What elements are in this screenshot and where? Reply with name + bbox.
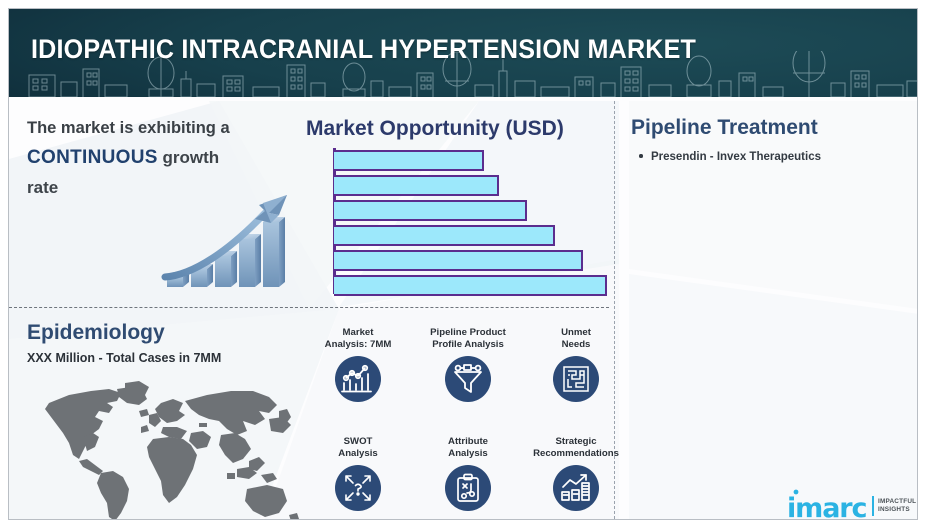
chart-bar — [334, 275, 607, 296]
chart-bar — [334, 175, 499, 196]
icon-cell-market-analysis[interactable]: Market Analysis: 7MM — [310, 327, 406, 402]
bar-chart-arrow-up-icon — [553, 465, 599, 511]
logo-tagline-line-2: INSIGHTS — [878, 506, 916, 514]
icon-caption: Attribute Analysis — [420, 436, 516, 461]
growth-line-2-rest: growth — [158, 148, 219, 167]
growth-emphasis: CONTINUOUS — [27, 147, 158, 168]
imarc-logo[interactable]: imarc IMPACTFUL INSIGHTS — [787, 489, 911, 520]
logo-wordmark: imarc — [787, 493, 866, 520]
poster-header: IDIOPATHIC INTRACRANIAL HYPERTENSION MAR… — [9, 9, 918, 97]
funnel-icon — [445, 356, 491, 402]
icon-caption: Pipeline Product Profile Analysis — [420, 327, 516, 352]
icon-cell-unmet-needs[interactable]: Unmet Needs — [528, 327, 624, 402]
icon-cell-attribute-analysis[interactable]: Attribute Analysis — [420, 436, 516, 511]
chart-bar — [334, 225, 555, 246]
bullet-icon — [639, 154, 643, 158]
growth-line-1: The market is exhibiting a — [27, 114, 289, 143]
epidemiology-subtitle: XXX Million - Total Cases in 7MM — [27, 351, 221, 365]
logo-tagline-line-1: IMPACTFUL — [878, 498, 916, 506]
market-opportunity-chart — [319, 144, 609, 299]
pipeline-treatment-list: Presendin - Invex Therapeutics — [637, 149, 907, 165]
chart-bar — [334, 150, 484, 171]
icon-cell-strategic-recommendations[interactable]: Strategic Recommendations — [528, 436, 624, 511]
logo-tagline: IMPACTFUL INSIGHTS — [878, 498, 916, 514]
bar-line-chart-icon — [335, 356, 381, 402]
clipboard-flow-icon — [445, 465, 491, 511]
3d-bar-chart-growth-arrow-icon — [159, 189, 299, 294]
chart-bar — [334, 200, 527, 221]
infographic-poster: IDIOPATHIC INTRACRANIAL HYPERTENSION MAR… — [0, 0, 926, 528]
icon-caption: Unmet Needs — [528, 327, 624, 352]
growth-line-2: CONTINUOUS growth — [27, 143, 289, 173]
logo-separator — [872, 496, 874, 516]
pipeline-treatment-title: Pipeline Treatment — [631, 116, 818, 140]
icon-caption: Strategic Recommendations — [528, 436, 624, 461]
maze-icon — [553, 356, 599, 402]
icon-caption: Market Analysis: 7MM — [310, 327, 406, 352]
horizontal-divider — [9, 307, 609, 308]
icon-cell-pipeline-product-profile[interactable]: Pipeline Product Profile Analysis — [420, 327, 516, 402]
chart-bar — [334, 250, 583, 271]
four-arrows-question-icon — [335, 465, 381, 511]
world-map-silhouette-icon — [21, 377, 306, 520]
icon-cell-swot-analysis[interactable]: SWOT Analysis — [310, 436, 406, 511]
poster-frame: IDIOPATHIC INTRACRANIAL HYPERTENSION MAR… — [8, 8, 918, 520]
list-item: Presendin - Invex Therapeutics — [637, 149, 907, 165]
list-item-label: Presendin - Invex Therapeutics — [651, 151, 821, 163]
market-opportunity-title: Market Opportunity (USD) — [306, 117, 564, 141]
page-title: IDIOPATHIC INTRACRANIAL HYPERTENSION MAR… — [31, 34, 696, 65]
icon-caption: SWOT Analysis — [310, 436, 406, 461]
epidemiology-title: Epidemiology — [27, 321, 165, 345]
